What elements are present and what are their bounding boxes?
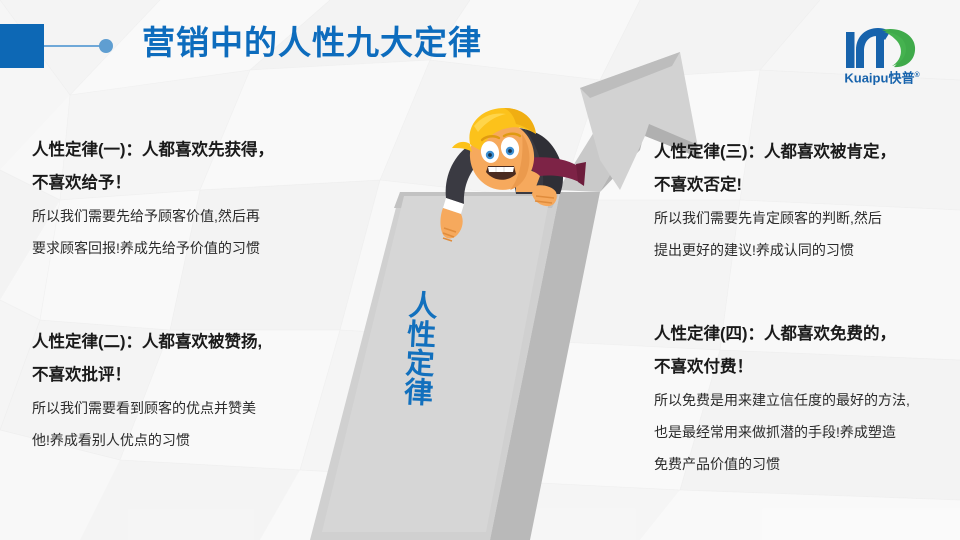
law-3-body-line2: 提出更好的建议!养成认同的习惯 [654,234,896,266]
law-block-4: 人性定律(四)：人都喜欢免费的， 不喜欢付费！ 所以免费是用来建立信任度的最好的… [654,318,910,480]
logo-trademark: ® [914,72,919,79]
logo-chinese: 快普 [888,70,914,85]
logo-latin: Kuaipu [844,70,888,85]
law-4-body-line2: 也是最经常用来做抓潜的手段!养成塑造 [654,416,910,448]
header-accent-line [44,45,100,47]
arrow-vertical-label: 人性定律 [393,289,443,407]
law-3-head-line1: 人性定律(三)：人都喜欢被肯定， [654,136,896,169]
law-2-head-line1: 人性定律(二)：人都喜欢被赞扬, [32,326,262,359]
law-2-head-line2: 不喜欢批评！ [32,359,262,392]
logo-wordmark: Kuaipu快普® [826,68,938,86]
law-4-head-line2: 不喜欢付费！ [654,351,910,384]
law-4-head-line1: 人性定律(四)：人都喜欢免费的， [654,318,910,351]
brand-logo: Kuaipu快普® [826,26,938,86]
law-3-body-line1: 所以我们需要先肯定顾客的判断,然后 [654,202,896,234]
law-2-body-line2: 他!养成看别人优点的习惯 [32,424,262,456]
law-4-body-line3: 免费产品价值的习惯 [654,448,910,480]
header-accent-dot [99,39,113,53]
businessman-climbing-arrow-illustration [430,100,630,265]
slide-root: 营销中的人性九大定律 Kuaipu快普® [0,0,960,540]
law-1-body-line1: 所以我们需要先给予顾客价值,然后再 [32,200,274,232]
law-2-body-line1: 所以我们需要看到顾客的优点并赞美 [32,392,262,424]
law-1-head-line1: 人性定律(一)：人都喜欢先获得， [32,134,274,167]
law-1-body-line2: 要求顾客回报!养成先给予价值的习惯 [32,232,274,264]
header-accent-square [0,24,44,68]
law-block-3: 人性定律(三)：人都喜欢被肯定， 不喜欢否定! 所以我们需要先肯定顾客的判断,然… [654,136,896,266]
kuaipu-logo-icon [844,26,922,70]
law-block-2: 人性定律(二)：人都喜欢被赞扬, 不喜欢批评！ 所以我们需要看到顾客的优点并赞美… [32,326,262,456]
law-3-head-line2: 不喜欢否定! [654,169,896,202]
law-4-body-line1: 所以免费是用来建立信任度的最好的方法, [654,384,910,416]
page-title: 营销中的人性九大定律 [142,21,482,65]
law-1-head-line2: 不喜欢给予！ [32,167,274,200]
law-block-1: 人性定律(一)：人都喜欢先获得， 不喜欢给予！ 所以我们需要先给予顾客价值,然后… [32,134,274,264]
